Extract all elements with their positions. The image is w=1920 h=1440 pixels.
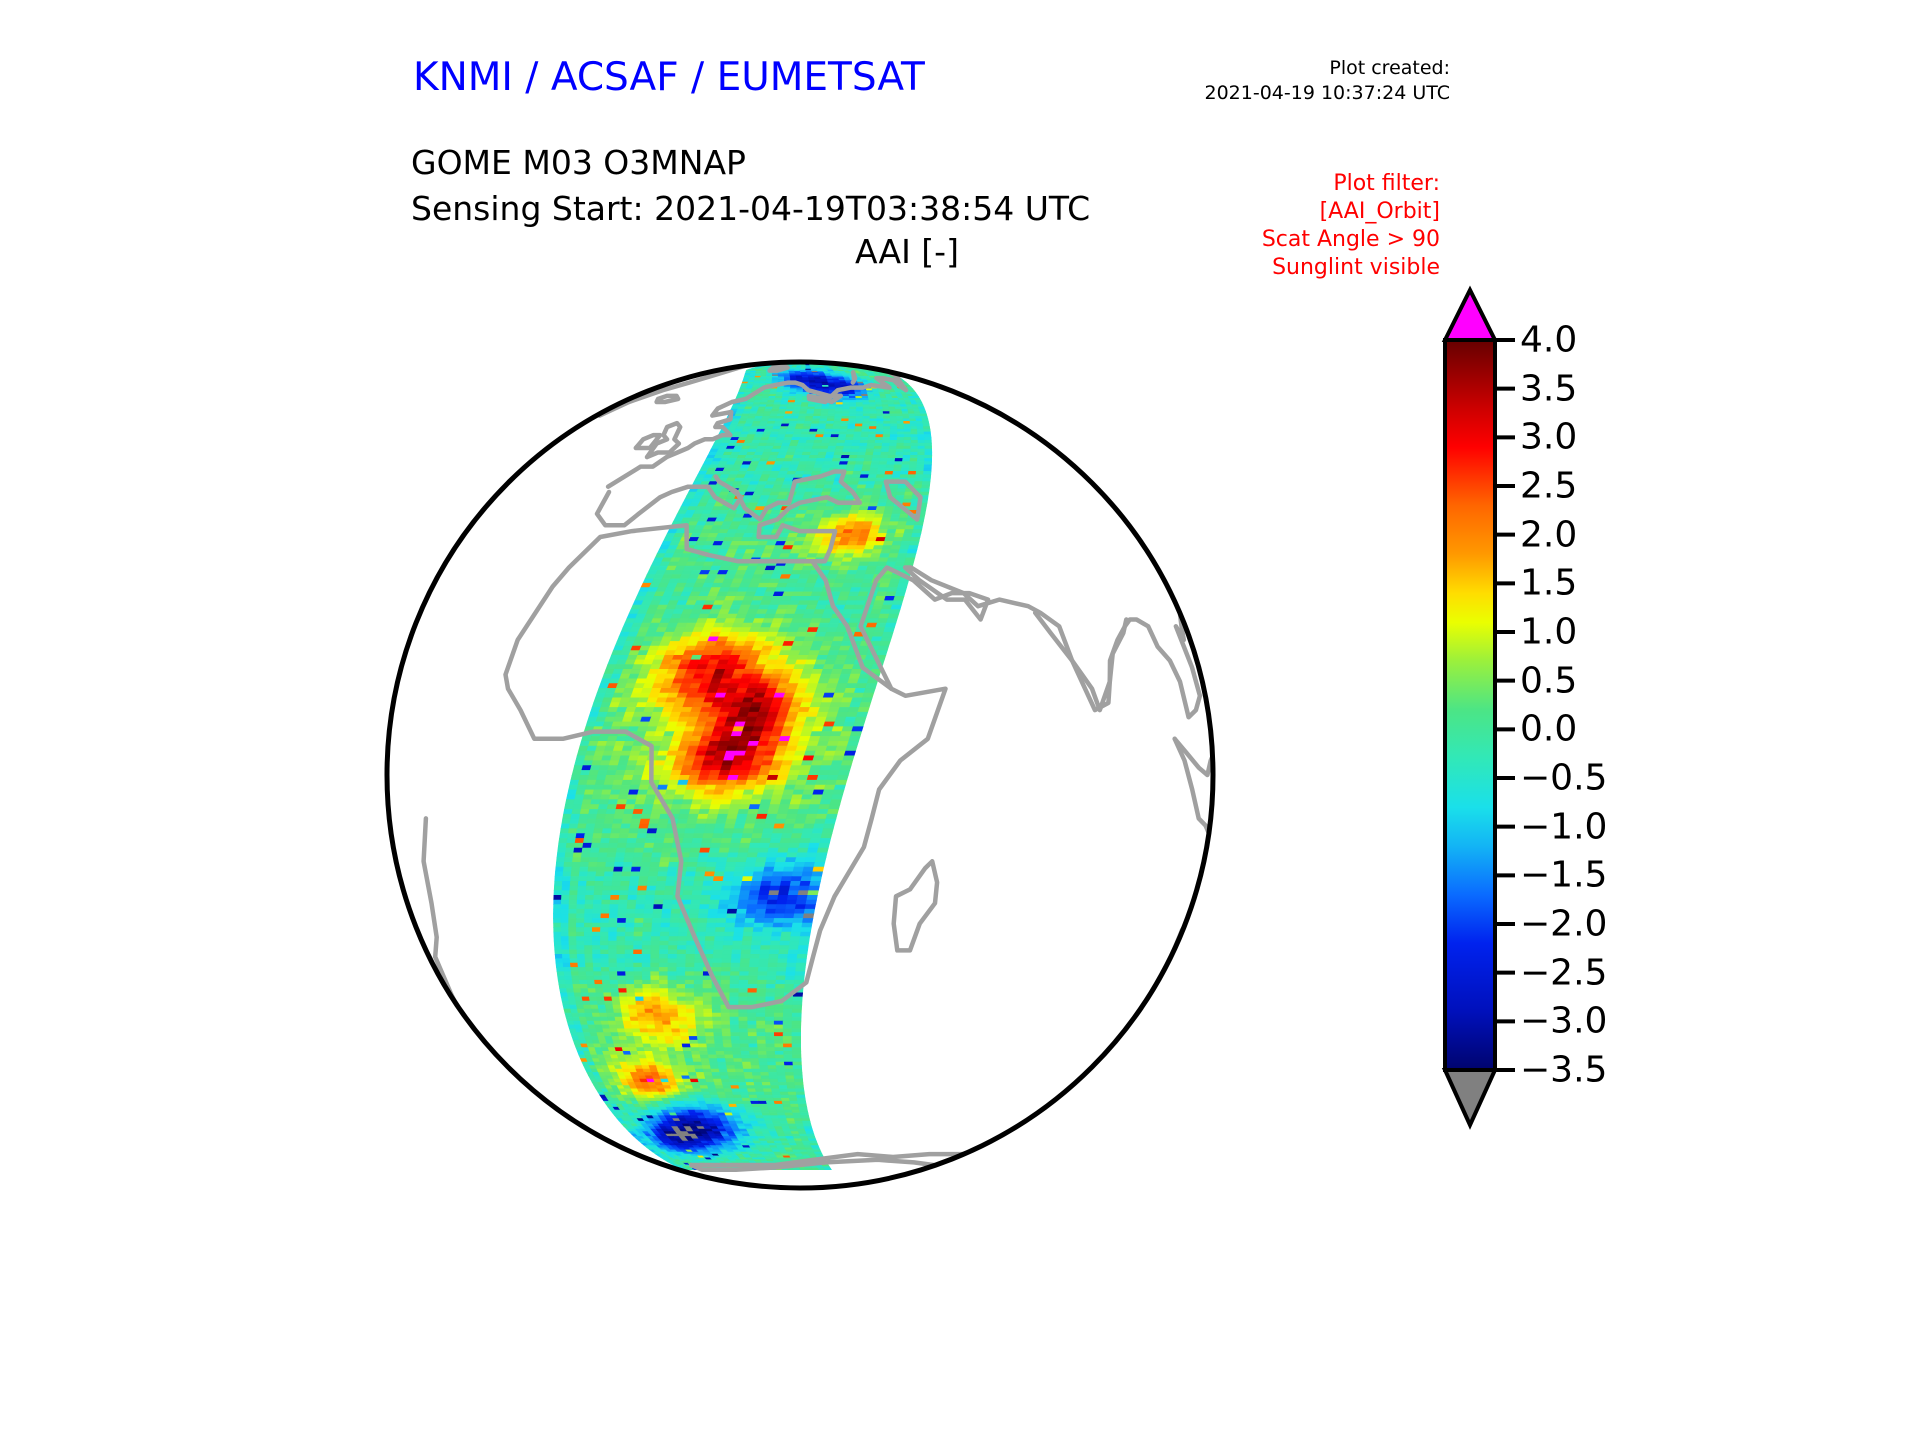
swath-pixel (824, 485, 834, 489)
swath-pixel (865, 485, 874, 489)
swath-pixel (712, 997, 721, 1001)
swath-pixel (821, 669, 832, 674)
swath-pixel (780, 881, 791, 886)
swath-pixel (744, 785, 755, 790)
swath-pixel (797, 775, 808, 780)
swath-pixel (806, 465, 815, 468)
swath-pixel (596, 746, 606, 751)
swath-pixel (747, 775, 758, 780)
swath-pixel (808, 458, 817, 461)
swath-pixel (863, 414, 870, 416)
swath-pixel (793, 867, 804, 872)
swath-pixel (585, 946, 593, 950)
swath-pixel (745, 819, 756, 824)
swath-pixel (630, 824, 640, 829)
swath-pixel (859, 646, 870, 651)
swath-pixel (617, 766, 627, 771)
swath-pixel (848, 566, 859, 570)
swath-pixel (865, 514, 875, 518)
swath-pixel (765, 427, 773, 430)
swath-pixel (758, 972, 768, 976)
swath-pixel (754, 867, 765, 872)
swath-pixel (805, 416, 813, 419)
swath-pixel (891, 514, 900, 518)
swath-pixel (690, 770, 701, 775)
swath-pixel (714, 872, 725, 877)
swath-pixel (748, 809, 759, 814)
swath-pixel (876, 409, 883, 411)
swath-pixel (886, 465, 894, 468)
swath-pixel (813, 693, 825, 698)
swath-pixel (700, 736, 711, 741)
swath-pixel (797, 421, 805, 424)
swath-pixel (822, 465, 831, 468)
swath-pixel (918, 443, 925, 446)
swath-pixel (868, 619, 879, 624)
swath-pixel (777, 900, 788, 905)
swath-pixel (903, 419, 910, 422)
swath-pixel (750, 954, 760, 958)
swath-pixel (624, 770, 635, 775)
swath-pixel (634, 976, 643, 980)
swath-pixel (886, 468, 894, 471)
swath-pixel (845, 437, 853, 440)
swath-pixel (871, 526, 881, 530)
swath-pixel (807, 507, 817, 511)
swath-pixel (759, 770, 770, 775)
swath-pixel (558, 843, 567, 848)
swath-pixel (596, 989, 604, 993)
swath-pixel (653, 766, 664, 771)
swath-pixel (856, 489, 865, 493)
swath-pixel (846, 655, 857, 660)
swath-pixel (750, 412, 758, 414)
swath-pixel (721, 732, 732, 737)
swath-pixel (570, 819, 579, 824)
swath-pixel (873, 452, 881, 455)
swath-pixel (658, 819, 669, 824)
swath-pixel (879, 614, 890, 619)
swath-pixel (752, 877, 763, 882)
swath-pixel (805, 489, 815, 493)
swath-pixel (911, 449, 918, 452)
swath-pixel (730, 980, 739, 984)
swath-pixel (554, 900, 562, 905)
swath-pixel (736, 717, 747, 722)
swath-pixel (685, 989, 694, 993)
swath-pixel (788, 446, 797, 449)
swath-pixel (748, 980, 757, 984)
swath-pixel (698, 775, 709, 780)
swath-pixel (795, 427, 803, 430)
swath-pixel (861, 471, 870, 474)
swath-pixel (692, 838, 703, 843)
swath-pixel (754, 923, 764, 928)
swath-pixel (843, 665, 854, 670)
swath-pixel (905, 492, 914, 496)
swath-pixel (659, 980, 668, 984)
swath-pixel (574, 843, 583, 848)
swath-pixel (562, 950, 570, 954)
swath-pixel (782, 462, 791, 465)
swath-pixel (788, 400, 795, 402)
swath-pixel (757, 980, 767, 984)
swath-pixel (645, 905, 654, 910)
swath-pixel (705, 946, 715, 950)
swath-pixel (888, 455, 896, 458)
swath-pixel (790, 674, 802, 679)
swath-pixel (825, 507, 835, 511)
swath-pixel (567, 838, 576, 843)
swath-pixel (625, 967, 633, 971)
swath-pixel (554, 928, 562, 933)
swath-pixel (913, 526, 922, 530)
swath-pixel (779, 409, 787, 411)
swath-pixel (694, 993, 703, 997)
swath-pixel (888, 526, 898, 530)
swath-pixel (797, 465, 806, 468)
swath-pixel (652, 997, 661, 1001)
swath-pixel (766, 858, 777, 863)
swath-pixel (840, 537, 850, 541)
swath-pixel (786, 407, 794, 409)
swath-pixel (756, 780, 767, 785)
swath-pixel (604, 819, 614, 824)
swath-pixel (705, 722, 716, 727)
swath-pixel (890, 421, 897, 424)
swath-pixel (812, 518, 822, 522)
swath-pixel (750, 409, 758, 411)
swath-pixel (811, 449, 820, 452)
swath-pixel (616, 848, 626, 853)
swath-pixel (823, 824, 834, 829)
swath-pixel (732, 795, 743, 800)
swath-pixel (820, 800, 831, 805)
swath-pixel (647, 829, 657, 834)
swath-pixel (747, 712, 759, 717)
swath-pixel (628, 891, 637, 896)
swath-pixel (787, 405, 795, 407)
swath-pixel (624, 741, 635, 746)
swath-pixel (829, 405, 836, 407)
swath-pixel (617, 941, 625, 946)
swath-pixel (884, 424, 891, 427)
swath-pixel (887, 619, 898, 624)
swath-pixel (696, 751, 707, 756)
swath-pixel (585, 829, 594, 834)
swath-pixel (571, 867, 580, 872)
swath-pixel (588, 775, 598, 780)
swath-pixel (571, 775, 581, 780)
swath-pixel (859, 562, 870, 566)
swath-pixel (828, 414, 836, 416)
swath-pixel (860, 440, 868, 443)
swath-pixel (909, 414, 916, 416)
swath-pixel (746, 717, 758, 722)
swath-pixel (813, 443, 822, 446)
swath-pixel (883, 414, 890, 416)
swath-pixel (862, 526, 872, 530)
swath-pixel (801, 877, 812, 882)
swath-pixel (799, 736, 811, 741)
swath-pixel (571, 814, 580, 819)
swath-pixel (639, 824, 649, 829)
swath-pixel (856, 570, 867, 574)
swath-pixel (618, 984, 626, 988)
swath-pixel (883, 407, 890, 409)
swath-pixel (894, 533, 904, 537)
swath-pixel (692, 732, 703, 737)
swath-pixel (670, 923, 680, 928)
swath-pixel (636, 900, 645, 905)
swath-pixel (816, 780, 827, 785)
swath-pixel (897, 443, 904, 446)
swath-pixel (575, 997, 583, 1001)
swath-pixel (807, 712, 819, 717)
swath-pixel (904, 432, 911, 435)
swath-pixel (869, 471, 878, 474)
swath-pixel (730, 997, 739, 1001)
swath-pixel (853, 579, 864, 583)
swath-pixel (622, 867, 632, 872)
swath-pixel (740, 963, 750, 967)
swath-pixel (891, 546, 901, 550)
swath-pixel (772, 928, 782, 933)
swath-pixel (758, 848, 769, 853)
swath-pixel (801, 432, 809, 435)
swath-pixel (830, 674, 841, 679)
swath-pixel (689, 914, 699, 919)
swath-pixel (799, 941, 809, 946)
swath-pixel (801, 795, 812, 800)
swath-pixel (757, 412, 765, 414)
swath-pixel (707, 918, 717, 923)
swath-pixel (627, 761, 638, 766)
swath-pixel (802, 429, 810, 432)
swath-pixel (635, 843, 645, 848)
swath-pixel (797, 895, 808, 900)
swath-pixel (918, 435, 925, 438)
swath-pixel (792, 412, 800, 414)
swath-pixel (918, 446, 925, 449)
swath-pixel (584, 790, 594, 795)
swath-pixel (691, 736, 702, 741)
swath-pixel (739, 736, 751, 741)
swath-pixel (611, 993, 619, 997)
swath-pixel (660, 937, 669, 942)
swath-pixel (820, 703, 832, 708)
swath-pixel (734, 693, 745, 698)
swath-pixel (625, 805, 635, 810)
swath-pixel (903, 449, 911, 452)
swath-pixel (686, 954, 695, 958)
swath-pixel (780, 446, 789, 449)
swath-pixel (695, 785, 706, 790)
swath-pixel (797, 510, 807, 514)
swath-pixel (773, 923, 783, 928)
swath-pixel (752, 834, 763, 839)
swath-pixel (789, 707, 801, 712)
swath-pixel (742, 795, 753, 800)
swath-pixel (638, 886, 648, 891)
swath-pixel (682, 895, 692, 900)
swath-pixel (776, 972, 786, 976)
swath-pixel (801, 455, 810, 458)
swath-pixel (800, 703, 812, 708)
swath-pixel (631, 872, 641, 877)
swath-pixel (592, 928, 600, 933)
swath-pixel (794, 785, 805, 790)
swath-pixel (806, 510, 816, 514)
swath-pixel (838, 570, 849, 574)
swath-pixel (581, 858, 590, 863)
swath-pixel (733, 872, 744, 877)
swath-pixel (833, 455, 842, 458)
swath-pixel (790, 440, 799, 443)
swath-pixel (782, 398, 789, 400)
swath-pixel (914, 522, 923, 526)
swath-pixel (628, 756, 639, 761)
swath-pixel (804, 785, 815, 790)
swath-pixel (831, 641, 842, 646)
swath-pixel (730, 993, 739, 997)
swath-pixel (709, 848, 720, 853)
swath-pixel (807, 412, 815, 414)
swath-pixel (560, 993, 568, 997)
swath-pixel (784, 862, 795, 867)
swath-pixel (764, 409, 772, 411)
swath-pixel (792, 872, 803, 877)
swath-pixel (686, 997, 695, 1001)
swath-pixel (851, 669, 862, 674)
swath-pixel (688, 746, 699, 751)
swath-pixel (917, 403, 923, 405)
swath-pixel (748, 989, 757, 993)
swath-pixel (881, 518, 891, 522)
swath-pixel (754, 918, 764, 923)
swath-pixel (581, 853, 590, 858)
swath-pixel (862, 465, 871, 468)
swath-pixel (719, 805, 730, 810)
swath-pixel (895, 562, 905, 566)
swath-pixel (713, 950, 723, 954)
swath-pixel (628, 790, 638, 795)
swath-pixel (767, 421, 775, 424)
swath-pixel (609, 959, 617, 963)
swath-pixel (764, 918, 774, 923)
swath-pixel (593, 900, 602, 905)
swath-pixel (799, 437, 808, 440)
swath-pixel (875, 596, 886, 600)
swath-pixel (735, 819, 746, 824)
swath-pixel (799, 886, 810, 891)
swath-pixel (554, 886, 562, 891)
swath-pixel (761, 881, 772, 886)
swath-pixel (850, 400, 857, 402)
swath-pixel (771, 432, 780, 435)
swath-pixel (850, 409, 857, 411)
swath-pixel (631, 746, 642, 751)
swath-pixel (837, 712, 848, 717)
swath-pixel (588, 814, 598, 819)
swath-pixel (651, 972, 660, 976)
swath-pixel (569, 905, 577, 910)
swath-pixel (877, 503, 886, 507)
swath-pixel (781, 877, 792, 882)
swath-pixel (770, 452, 779, 455)
swath-pixel (758, 967, 768, 971)
swath-pixel (771, 834, 782, 839)
swath-pixel (561, 928, 569, 933)
swath-pixel (590, 853, 599, 858)
swath-pixel (863, 403, 870, 405)
swath-pixel (862, 579, 873, 583)
swath-pixel (859, 588, 870, 592)
swath-pixel (768, 398, 775, 400)
swath-pixel (785, 858, 796, 863)
swath-pixel (904, 421, 911, 424)
swath-pixel (772, 872, 783, 877)
swath-pixel (698, 814, 709, 819)
swath-pixel (828, 412, 835, 414)
swath-pixel (554, 932, 562, 937)
swath-pixel (834, 421, 842, 424)
swath-pixel (916, 468, 924, 471)
swath-pixel (708, 741, 719, 746)
swath-pixel (828, 651, 839, 656)
swath-pixel (787, 775, 798, 780)
swath-pixel (636, 905, 645, 910)
swath-pixel (807, 741, 819, 746)
swath-pixel (788, 950, 798, 954)
swath-pixel (726, 862, 737, 867)
swath-pixel (767, 980, 777, 984)
swath-pixel (842, 412, 849, 414)
swath-pixel (592, 946, 600, 950)
swath-pixel (629, 881, 639, 886)
swath-pixel (844, 526, 854, 530)
swath-pixel (593, 834, 603, 839)
swath-pixel (807, 628, 818, 633)
swath-pixel (832, 458, 841, 461)
swath-pixel (827, 416, 835, 419)
swath-pixel (876, 537, 886, 541)
swath-pixel (598, 858, 607, 863)
swath-pixel (634, 963, 643, 967)
swath-pixel (756, 746, 768, 751)
swath-pixel (793, 407, 801, 409)
swath-pixel (844, 751, 855, 756)
swath-pixel (816, 853, 827, 858)
swath-pixel (877, 424, 884, 427)
swath-pixel (923, 475, 931, 478)
swath-pixel (578, 881, 587, 886)
swath-pixel (707, 717, 718, 722)
swath-pixel (554, 905, 562, 910)
swath-pixel (553, 918, 561, 923)
swath-pixel (777, 963, 787, 967)
swath-pixel (567, 993, 575, 997)
swath-pixel (730, 972, 739, 976)
swath-pixel (878, 530, 888, 534)
swath-pixel (874, 514, 884, 518)
swath-pixel (804, 421, 812, 424)
swath-pixel (603, 886, 612, 891)
swath-pixel (806, 533, 816, 537)
swath-pixel (895, 405, 902, 407)
swath-pixel (918, 437, 925, 440)
swath-pixel (805, 688, 817, 693)
